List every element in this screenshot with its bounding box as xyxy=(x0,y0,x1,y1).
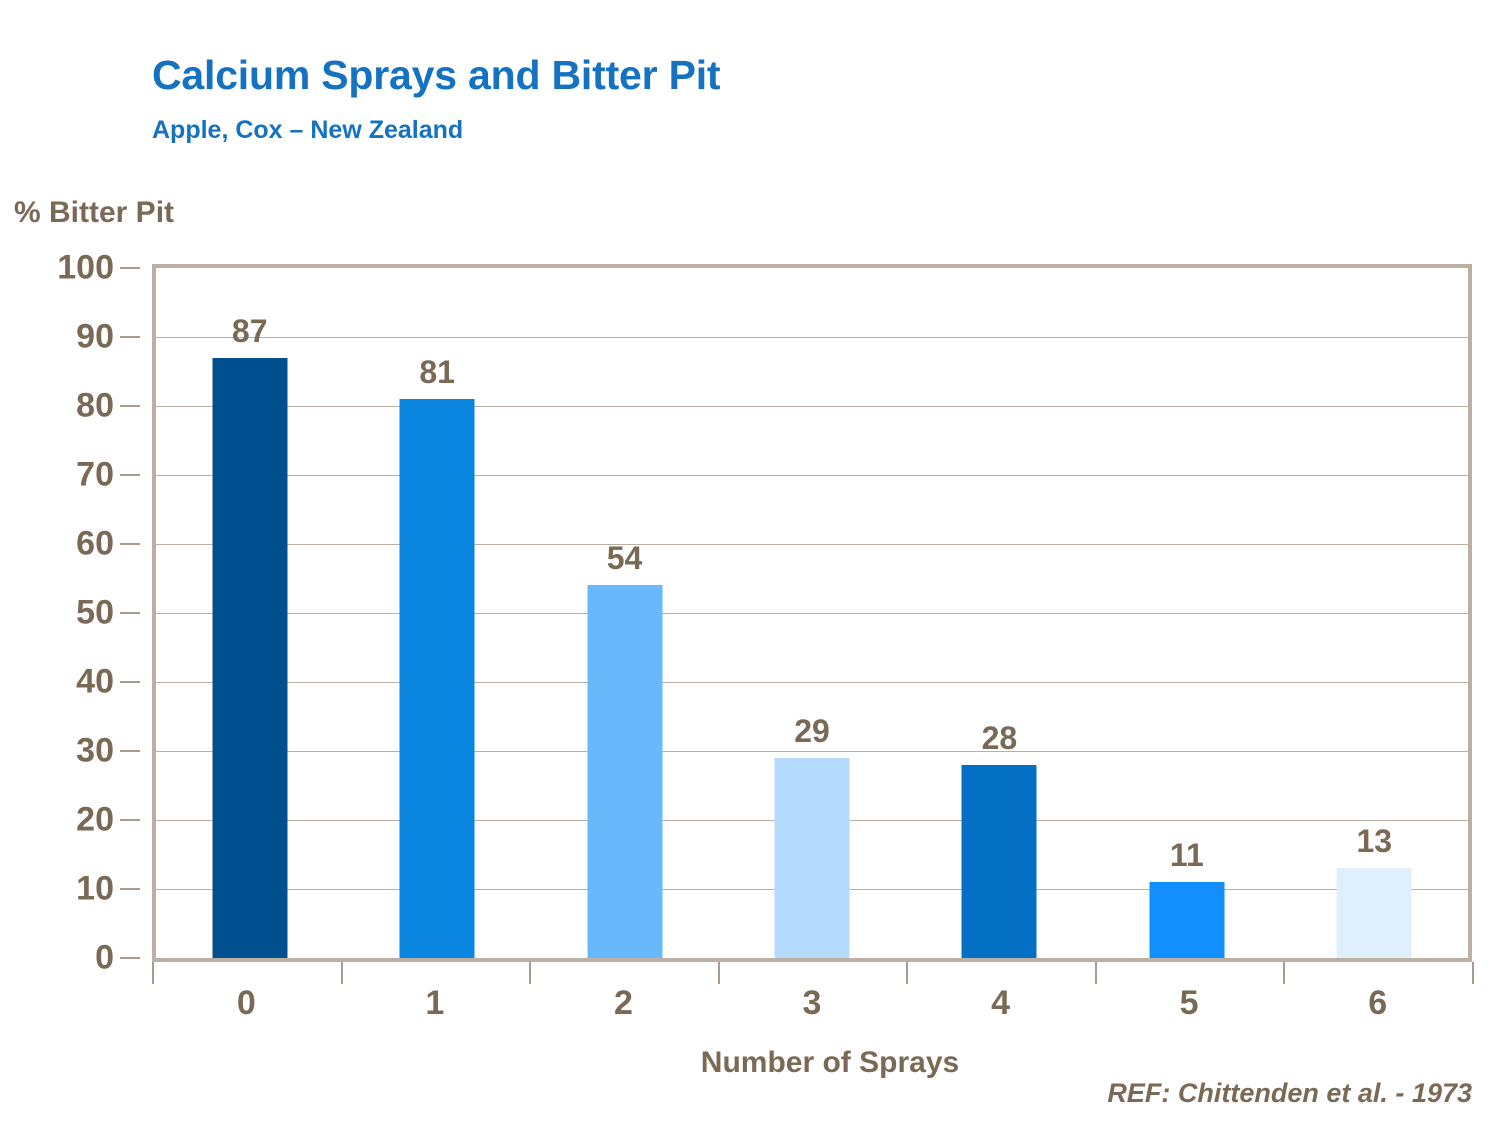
x-tick-label: 4 xyxy=(991,984,1010,1023)
y-axis: 1009080706050403020100 xyxy=(0,264,152,962)
y-tick-label: 100 xyxy=(57,249,114,288)
bars-layer: 87815429281113 xyxy=(156,268,1468,958)
x-tick-label: 3 xyxy=(803,984,822,1023)
y-tick-mark xyxy=(120,888,140,890)
bar-slot: 28 xyxy=(906,268,1093,958)
y-tick-mark xyxy=(120,612,140,614)
x-axis-title: Number of Sprays xyxy=(0,1046,1500,1080)
y-tick-label: 90 xyxy=(76,318,114,357)
x-tick-mark xyxy=(718,962,720,984)
y-tick-label: 50 xyxy=(76,594,114,633)
reference-note: REF: Chittenden et al. - 1973 xyxy=(1107,1078,1472,1109)
y-tick-label: 60 xyxy=(76,525,114,564)
x-tick-mark xyxy=(1283,962,1285,984)
bar-value-label: 11 xyxy=(1170,837,1204,874)
y-tick-label: 10 xyxy=(76,870,114,909)
y-tick-label: 70 xyxy=(76,456,114,495)
y-tick-label: 30 xyxy=(76,732,114,771)
y-tick-mark xyxy=(120,543,140,545)
bar[interactable] xyxy=(1149,882,1224,958)
y-tick-label: 20 xyxy=(76,801,114,840)
y-tick-mark xyxy=(120,957,140,959)
bar-value-label: 54 xyxy=(607,540,643,577)
x-tick-mark xyxy=(1472,962,1474,984)
bar[interactable] xyxy=(212,358,287,958)
y-tick-label: 80 xyxy=(76,387,114,426)
y-tick-mark xyxy=(120,474,140,476)
bar-slot: 81 xyxy=(343,268,530,958)
bar-value-label: 81 xyxy=(419,354,455,391)
x-tick-mark xyxy=(152,962,154,984)
bar-slot: 13 xyxy=(1281,268,1468,958)
x-tick-mark xyxy=(341,962,343,984)
bar[interactable] xyxy=(774,758,849,958)
x-tick-label: 6 xyxy=(1368,984,1387,1023)
y-tick-mark xyxy=(120,405,140,407)
x-tick-label: 0 xyxy=(237,984,256,1023)
y-tick-mark xyxy=(120,750,140,752)
y-tick-mark xyxy=(120,267,140,269)
page-title: Calcium Sprays and Bitter Pit xyxy=(152,52,720,99)
y-tick-mark xyxy=(120,681,140,683)
bar-slot: 87 xyxy=(156,268,343,958)
y-tick-mark xyxy=(120,336,140,338)
y-tick-label: 40 xyxy=(76,663,114,702)
x-tick-mark xyxy=(1095,962,1097,984)
bar-value-label: 13 xyxy=(1356,823,1392,860)
y-axis-title: % Bitter Pit xyxy=(14,196,174,230)
x-tick-mark xyxy=(906,962,908,984)
x-tick-mark xyxy=(529,962,531,984)
x-axis: 0123456 xyxy=(152,962,1472,1042)
x-tick-label: 5 xyxy=(1180,984,1199,1023)
bar-value-label: 28 xyxy=(982,720,1018,757)
bar-value-label: 29 xyxy=(794,713,830,750)
x-tick-label: 2 xyxy=(614,984,633,1023)
bar-slot: 11 xyxy=(1093,268,1280,958)
bar[interactable] xyxy=(400,399,475,958)
page-subtitle: Apple, Cox – New Zealand xyxy=(152,116,463,145)
bar[interactable] xyxy=(1337,868,1412,958)
bar[interactable] xyxy=(587,585,662,958)
y-tick-mark xyxy=(120,819,140,821)
bar-slot: 29 xyxy=(718,268,905,958)
y-tick-label: 0 xyxy=(95,939,114,978)
x-tick-label: 1 xyxy=(425,984,444,1023)
bar-slot: 54 xyxy=(531,268,718,958)
bar-value-label: 87 xyxy=(232,313,268,350)
bar[interactable] xyxy=(962,765,1037,958)
